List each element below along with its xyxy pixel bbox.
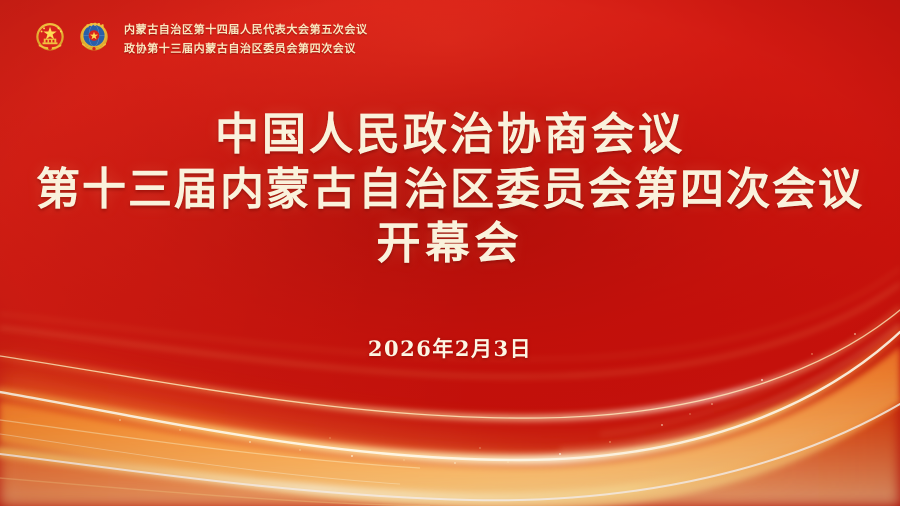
emblem-group xyxy=(30,18,114,58)
ribbon-streak-2 xyxy=(0,434,400,484)
ribbon-streak-3 xyxy=(0,478,430,506)
page-title: 中国人民政治协商会议 第十三届内蒙古自治区委员会第四次会议 开幕会 xyxy=(0,108,900,272)
ribbon-crest-second-highlight xyxy=(0,310,900,418)
header-text-lines: 内蒙古自治区第十四届人民代表大会第五次会议 政协第十三届内蒙古自治区委员会第四次… xyxy=(124,21,368,56)
ribbon-lower-sweep xyxy=(0,402,900,498)
conference-header: 内蒙古自治区第十四届人民代表大会第五次会议 政协第十三届内蒙古自治区委员会第四次… xyxy=(30,18,368,58)
conference-backdrop: 内蒙古自治区第十四届人民代表大会第五次会议 政协第十三届内蒙古自治区委员会第四次… xyxy=(0,0,900,506)
title-line-2: 第十三届内蒙古自治区委员会第四次会议 xyxy=(0,163,900,218)
title-line-1: 中国人民政治协商会议 xyxy=(0,108,900,163)
title-line-3: 开幕会 xyxy=(0,217,900,272)
header-line-npc: 内蒙古自治区第十四届人民代表大会第五次会议 xyxy=(124,21,368,37)
header-line-cppcc: 政协第十三届内蒙古自治区委员会第四次会议 xyxy=(124,40,368,56)
ribbon-body-warm xyxy=(0,346,900,506)
ribbon-lower-glow xyxy=(0,356,900,506)
conference-date: 2026年2月3日 xyxy=(0,333,900,363)
ribbon-crest-second xyxy=(0,310,900,418)
ribbon-filament-2 xyxy=(600,306,900,434)
cppcc-emblem-icon xyxy=(74,18,114,58)
ribbon-lower-sweep-highlight xyxy=(0,404,900,500)
ribbon-streak-1 xyxy=(0,420,420,468)
national-emblem-of-china-icon xyxy=(30,18,70,58)
ribbon-haze xyxy=(0,346,900,506)
